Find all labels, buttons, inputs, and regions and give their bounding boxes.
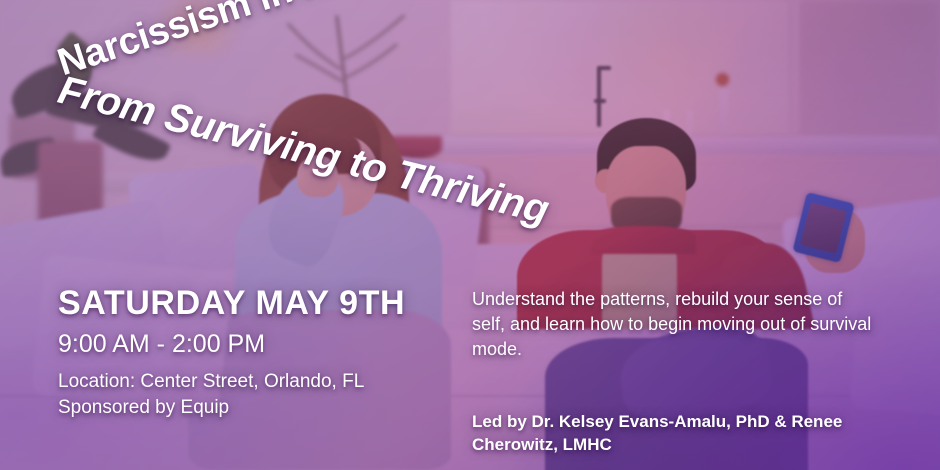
event-location: Location: Center Street, Orlando, FL (58, 369, 458, 395)
poster-title: Narcissism in Relationships: From Surviv… (58, 36, 718, 119)
event-poster: Narcissism in Relationships: From Surviv… (0, 0, 940, 470)
event-time: 9:00 AM - 2:00 PM (58, 331, 458, 359)
event-sponsor: Sponsored by Equip (58, 395, 458, 421)
event-description-block: Understand the patterns, rebuild your se… (472, 287, 872, 456)
event-details-block: SATURDAY MAY 9TH 9:00 AM - 2:00 PM Locat… (58, 286, 458, 420)
event-date: SATURDAY MAY 9TH (58, 286, 458, 322)
title-line-2: From Surviving to Thriving (54, 69, 134, 127)
event-presenters: Led by Dr. Kelsey Evans-Amalu, PhD & Ren… (472, 411, 872, 456)
event-description: Understand the patterns, rebuild your se… (472, 287, 872, 361)
